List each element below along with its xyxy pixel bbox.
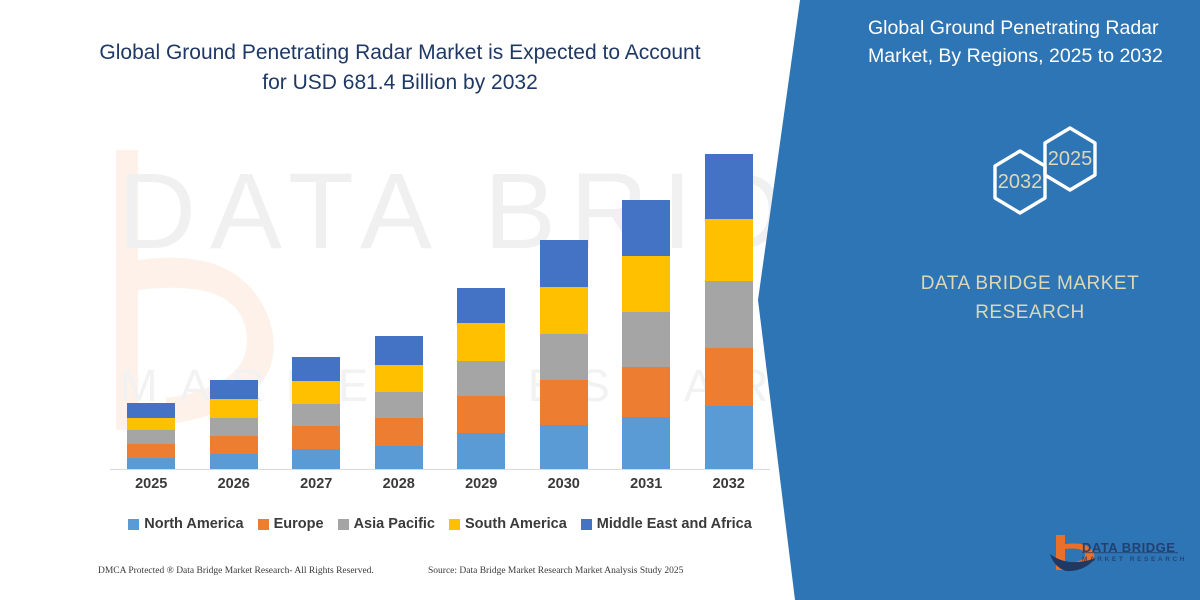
bar-segment-asia-pacific[interactable] [127,430,175,444]
bar-segment-middle-east-and-africa[interactable] [127,403,175,418]
bar-segment-asia-pacific[interactable] [622,312,670,367]
bar-segment-europe[interactable] [292,426,340,449]
bar-2029[interactable] [457,288,505,469]
bar-2032[interactable] [705,154,753,469]
bar-2031[interactable] [622,200,670,469]
bar-2030[interactable] [540,240,588,469]
legend-swatch-icon [581,519,592,530]
stacked-bar-chart [110,140,770,470]
bar-segment-asia-pacific[interactable] [457,361,505,396]
dbmr-logo-subtitle: MARKET RESEARCH [1082,556,1187,563]
x-axis-label-2031: 2031 [611,476,681,492]
bar-segment-north-america[interactable] [622,417,670,469]
hexagon-outline-icon [925,118,1115,228]
bar-segment-south-america[interactable] [127,418,175,431]
page-title-line-2: for USD 681.4 Billion by 2032 [70,68,730,98]
bar-segment-middle-east-and-africa[interactable] [705,154,753,219]
legend-label: Asia Pacific [354,516,435,532]
legend-swatch-icon [338,519,349,530]
bar-segment-middle-east-and-africa[interactable] [457,288,505,323]
legend-item-south-america[interactable]: South America [449,516,567,532]
footer-dmca-text: DMCA Protected ® Data Bridge Market Rese… [98,566,374,576]
panel-brand: DATA BRIDGE MARKET RESEARCH [880,270,1180,327]
bar-2027[interactable] [292,357,340,469]
legend-label: North America [144,516,243,532]
legend-label: Europe [274,516,324,532]
panel-title-line-1: Global Ground Penetrating Radar [868,14,1188,42]
x-axis-label-2030: 2030 [529,476,599,492]
bar-segment-south-america[interactable] [705,219,753,282]
x-axis-label-2027: 2027 [281,476,351,492]
bar-segment-north-america[interactable] [127,458,175,469]
legend-swatch-icon [449,519,460,530]
x-axis-label-2025: 2025 [116,476,186,492]
footer: DMCA Protected ® Data Bridge Market Rese… [0,566,800,592]
bar-segment-middle-east-and-africa[interactable] [540,240,588,287]
legend-item-north-america[interactable]: North America [128,516,243,532]
panel-title: Global Ground Penetrating Radar Market, … [868,14,1188,71]
bar-segment-middle-east-and-africa[interactable] [210,380,258,399]
bar-segment-middle-east-and-africa[interactable] [292,357,340,381]
bar-segment-asia-pacific[interactable] [210,418,258,436]
bar-segment-europe[interactable] [375,418,423,446]
bar-segment-europe[interactable] [127,444,175,458]
bar-segment-europe[interactable] [457,396,505,433]
x-axis-line [110,469,770,470]
bar-segment-asia-pacific[interactable] [375,392,423,418]
bar-segment-asia-pacific[interactable] [705,281,753,348]
bar-2026[interactable] [210,380,258,469]
bar-segment-south-america[interactable] [540,287,588,335]
bar-2025[interactable] [127,403,175,469]
infographic-canvas: DATA BRIDGE MARKET RESEARCH Global Groun… [0,0,1200,600]
bar-segment-south-america[interactable] [210,399,258,418]
x-axis-label-2026: 2026 [199,476,269,492]
chart-legend: North AmericaEuropeAsia PacificSouth Ame… [110,512,770,536]
bar-segment-europe[interactable] [705,348,753,406]
hexagon-group: 2032 2025 [925,118,1115,228]
hexagon-label-2025: 2025 [1046,148,1094,171]
panel-title-line-2: Market, By Regions, 2025 to 2032 [868,42,1188,70]
bar-segment-north-america[interactable] [375,446,423,469]
x-axis-label-2028: 2028 [364,476,434,492]
bar-segment-north-america[interactable] [457,433,505,470]
x-axis-label-2032: 2032 [694,476,764,492]
bar-segment-europe[interactable] [210,436,258,455]
panel-brand-line-2: RESEARCH [880,299,1180,328]
footer-source-text: Source: Data Bridge Market Research Mark… [428,566,683,576]
panel-brand-line-1: DATA BRIDGE MARKET [880,270,1180,299]
bar-segment-north-america[interactable] [705,406,753,469]
bar-segment-north-america[interactable] [292,449,340,469]
bar-segment-south-america[interactable] [375,365,423,392]
hexagon-label-2032: 2032 [996,171,1044,194]
bar-segment-south-america[interactable] [622,256,670,311]
legend-swatch-icon [128,519,139,530]
bar-2028[interactable] [375,336,423,469]
bar-segment-middle-east-and-africa[interactable] [375,336,423,365]
legend-label: Middle East and Africa [597,516,752,532]
x-axis-labels: 20252026202720282029203020312032 [110,476,770,498]
bar-segment-south-america[interactable] [292,381,340,404]
legend-label: South America [465,516,567,532]
page-title: Global Ground Penetrating Radar Market i… [70,38,730,98]
bar-segment-europe[interactable] [540,380,588,425]
bar-segment-asia-pacific[interactable] [292,404,340,426]
x-axis-label-2029: 2029 [446,476,516,492]
bar-segment-middle-east-and-africa[interactable] [622,200,670,256]
page-title-line-1: Global Ground Penetrating Radar Market i… [70,38,730,68]
legend-item-europe[interactable]: Europe [258,516,324,532]
bar-segment-north-america[interactable] [540,425,588,469]
bar-segment-south-america[interactable] [457,323,505,361]
bar-segment-asia-pacific[interactable] [540,334,588,380]
legend-item-asia-pacific[interactable]: Asia Pacific [338,516,435,532]
dbmr-logo-title: DATA BRIDGE [1082,540,1175,555]
legend-swatch-icon [258,519,269,530]
bar-segment-europe[interactable] [622,367,670,417]
dbmr-logo-icon [1048,532,1188,574]
legend-item-middle-east-and-africa[interactable]: Middle East and Africa [581,516,752,532]
bar-segment-north-america[interactable] [210,454,258,469]
